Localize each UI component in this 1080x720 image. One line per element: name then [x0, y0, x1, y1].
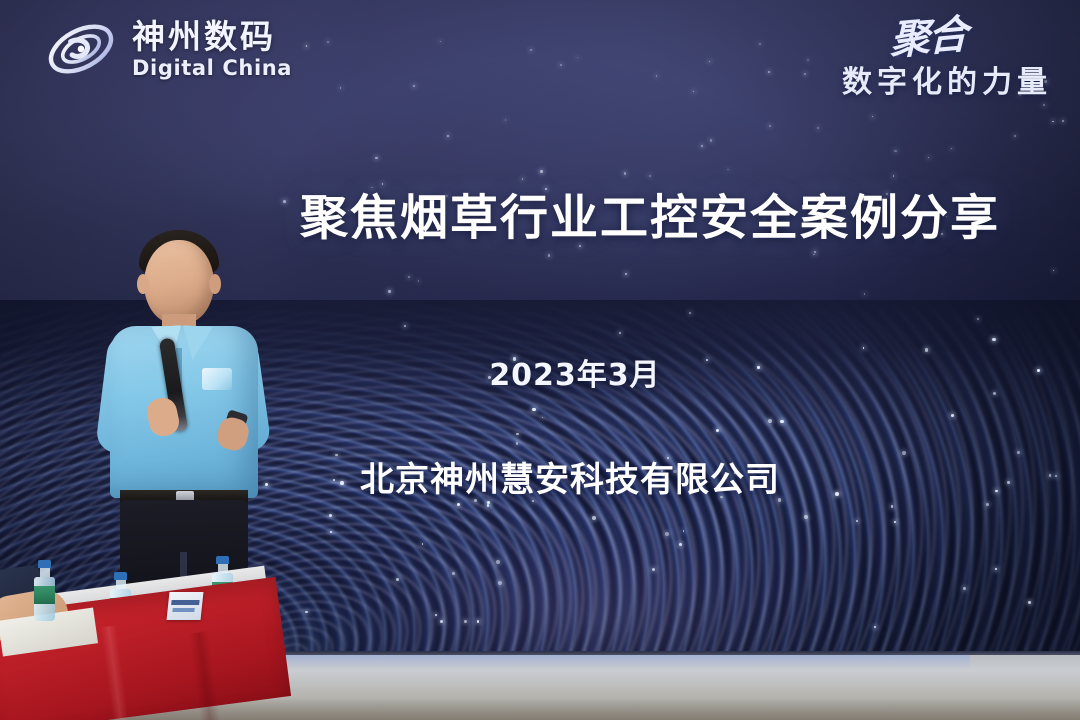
bottle-neck — [116, 580, 126, 589]
slide-title: 聚焦烟草行业工控安全案例分享 — [300, 178, 1012, 248]
brand-name-en: Digital China — [132, 58, 292, 79]
slogan-calligraphy: 聚合 — [890, 15, 966, 62]
bottle-cap — [114, 572, 127, 580]
name-card-strip — [172, 608, 194, 612]
brand-wordmark: 神州数码 Digital China — [132, 20, 292, 79]
bottle-cap — [38, 560, 51, 568]
brand-name-cn: 神州数码 — [132, 20, 292, 53]
event-slogan: 聚合 数字化的力量 — [842, 18, 1052, 98]
speaker-head — [144, 240, 214, 324]
company-badge-icon — [202, 368, 232, 390]
digital-china-brand-logo: 神州数码 Digital China — [44, 18, 292, 80]
speaker-ear-right — [209, 274, 221, 294]
slogan-subtitle: 数字化的力量 — [842, 68, 1052, 98]
bottle-neck — [218, 564, 228, 573]
water-bottle — [34, 560, 55, 621]
name-card-strip — [171, 600, 200, 605]
conference-stage-scene: 神州数码 Digital China 聚合 数字化的力量 聚焦烟草行业工控安全案… — [0, 0, 1080, 720]
bottle-label — [34, 586, 55, 604]
name-card — [167, 592, 204, 620]
bottle-cap — [216, 556, 229, 564]
speaker-ear-left — [137, 274, 149, 294]
bottle-neck — [40, 568, 50, 577]
bottle-body — [34, 577, 55, 621]
digital-china-swirl-logo-icon — [44, 18, 118, 80]
